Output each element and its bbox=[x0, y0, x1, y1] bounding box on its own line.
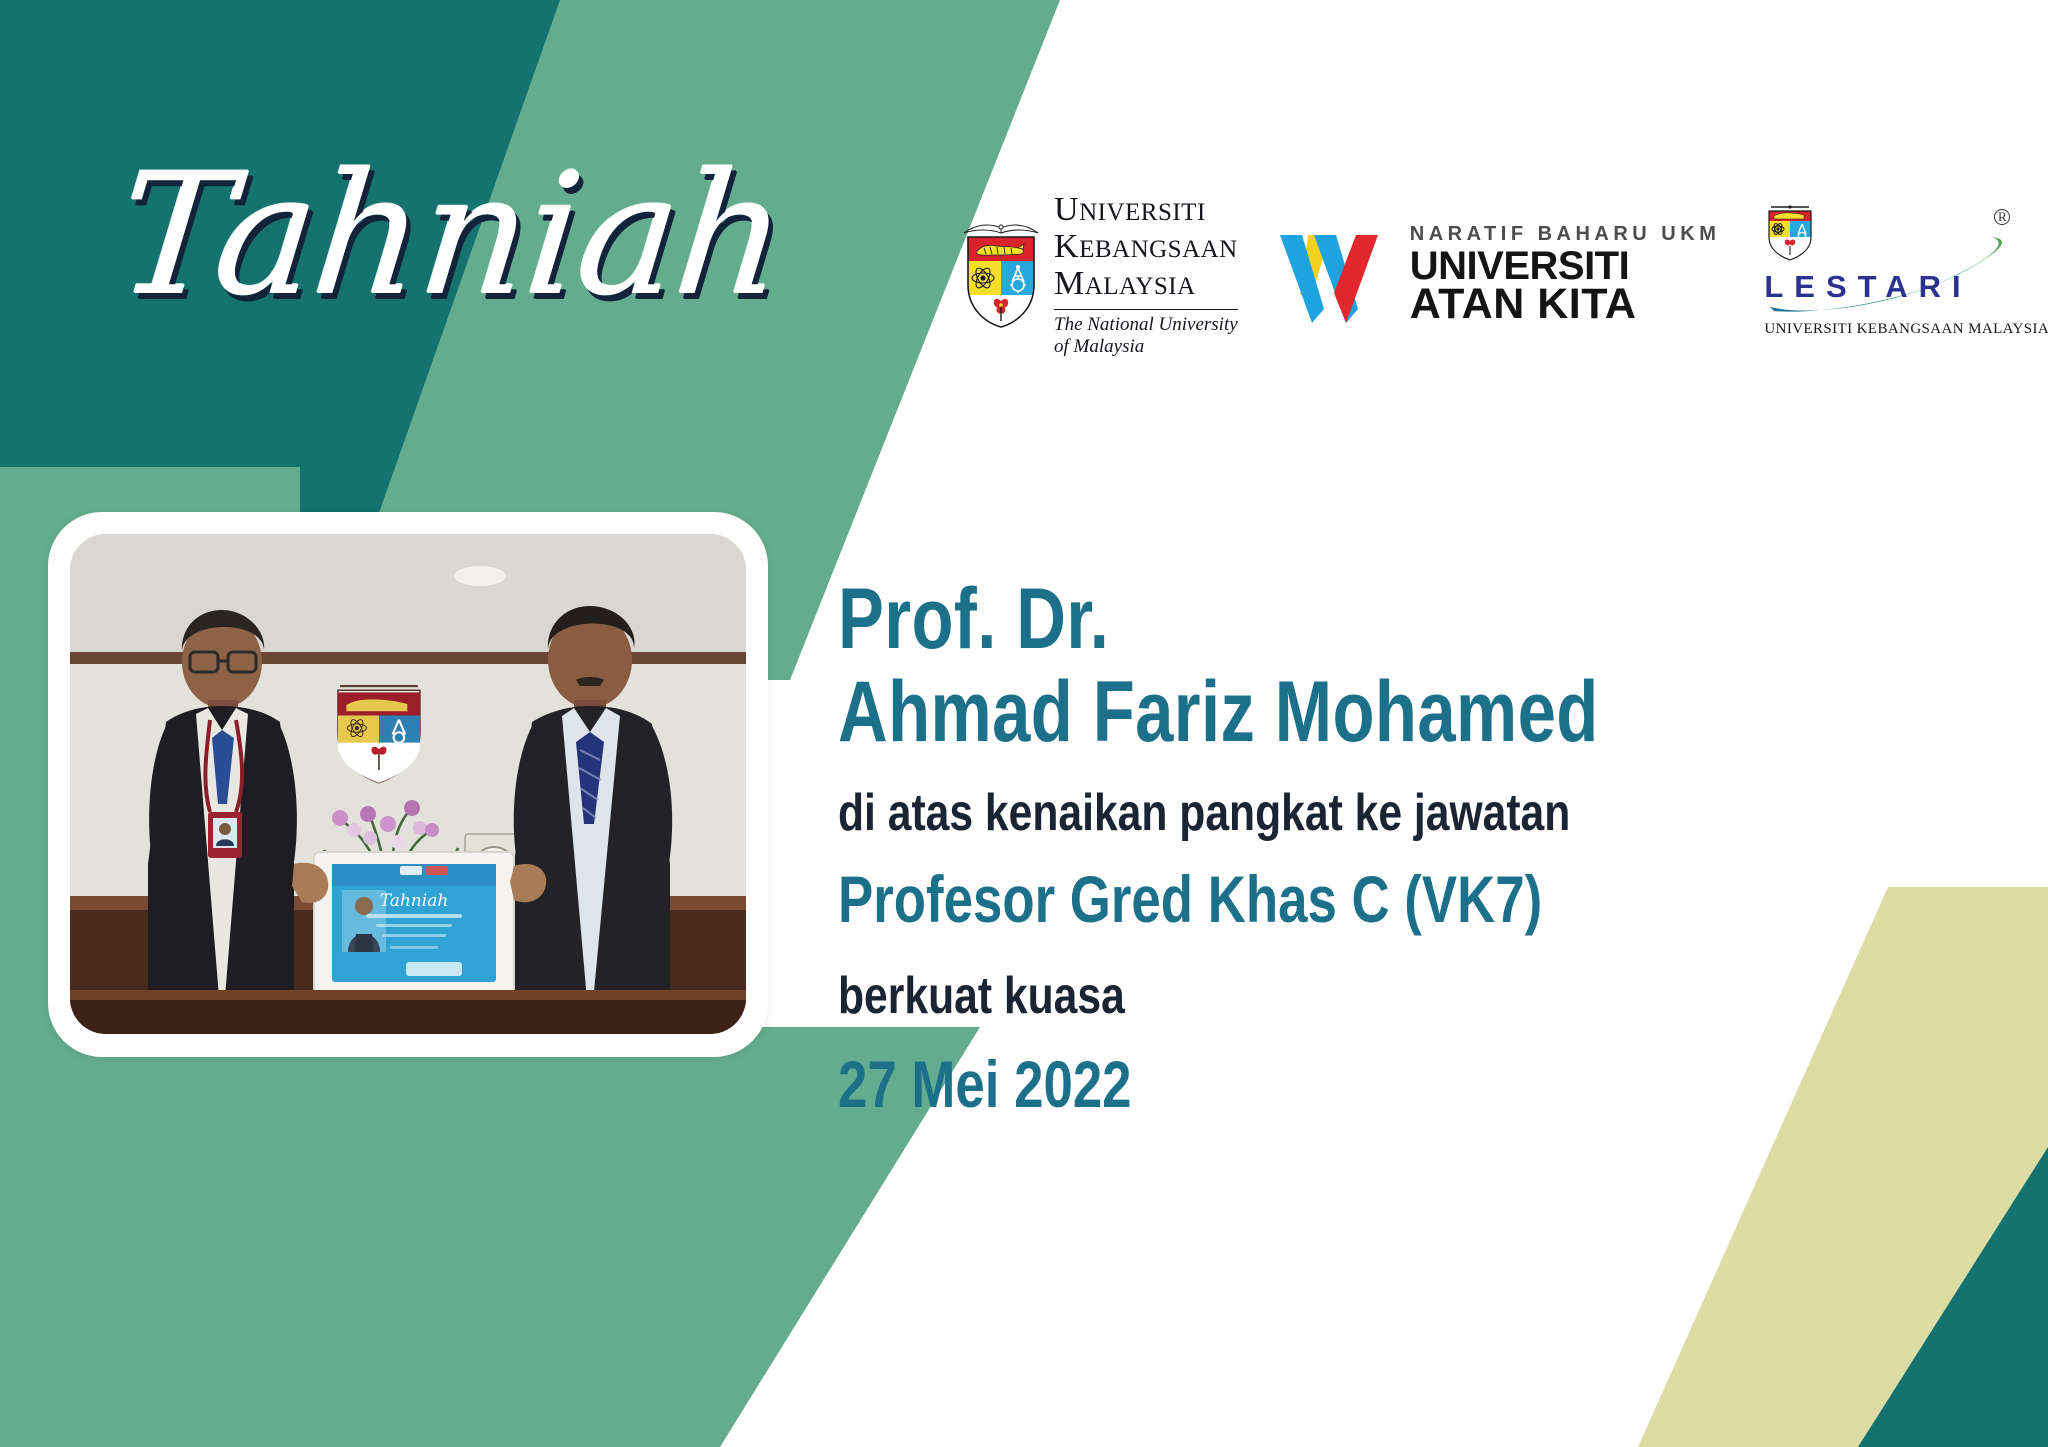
honoree-title: Prof. Dr. bbox=[838, 575, 1718, 664]
effective-label: berkuat kuasa bbox=[838, 964, 1740, 1029]
watan-kita-line-universiti: UNIVERSITI bbox=[1410, 248, 1721, 285]
photo-frame: Tahniah bbox=[48, 512, 768, 1057]
lestari-subtitle: UNIVERSITI KEBANGSAAN MALAYSIA bbox=[1764, 321, 2020, 338]
certificate-plaque: Tahniah bbox=[314, 852, 514, 998]
ukm-shield-crest-icon bbox=[960, 219, 1042, 331]
headline-tahniah: Tahniah bbox=[111, 151, 792, 319]
promotion-reason: di atas kenaikan pangkat ke jawatan bbox=[838, 781, 1740, 846]
promotion-position: Profesor Gred Khas C (VK7) bbox=[838, 860, 1718, 939]
ukm-tagline-line2: of Malaysia bbox=[1054, 336, 1238, 357]
ukm-tagline-line1: The National University bbox=[1054, 314, 1238, 335]
award-presentation-photo: Tahniah bbox=[70, 534, 746, 1034]
watan-kita-logo: NARATIF BAHARU UKM UNIVERSITI ATAN KITA bbox=[1278, 225, 1721, 325]
lestari-logo: R LESTARI UNIVERSITI KEBANGSAAN MALAYSIA bbox=[1760, 195, 2020, 355]
photo-illustration: Tahniah bbox=[70, 534, 746, 1034]
ukm-line-kebangsaan: KEBANGSAAN bbox=[1054, 230, 1238, 264]
photo-card: Tahniah bbox=[48, 512, 778, 942]
watan-kita-line-watan-kita: ATAN KITA bbox=[1410, 285, 1721, 325]
svg-text:Tahniah: Tahniah bbox=[380, 891, 449, 911]
ukm-logo: UNIVERSITI KEBANGSAAN MALAYSIA The Natio… bbox=[960, 193, 1238, 357]
effective-date: 27 Mei 2022 bbox=[838, 1045, 1718, 1124]
honoree-name: Ahmad Fariz Mohamed bbox=[838, 666, 1718, 759]
watan-kita-kicker: NARATIF BAHARU UKM bbox=[1410, 225, 1721, 243]
ukm-line-universiti: UNIVERSITI bbox=[1054, 193, 1238, 227]
watan-kita-wordmark: NARATIF BAHARU UKM UNIVERSITI ATAN KITA bbox=[1410, 225, 1721, 325]
double-w-chevron-icon bbox=[1278, 233, 1404, 325]
lestari-wordmark: LESTARI bbox=[1764, 269, 2016, 305]
headline-script-wrap: Tahniah bbox=[120, 120, 760, 350]
ukm-wordmark: UNIVERSITI KEBANGSAAN MALAYSIA The Natio… bbox=[1054, 193, 1238, 357]
logo-row: UNIVERSITI KEBANGSAAN MALAYSIA The Natio… bbox=[960, 190, 1980, 360]
ukm-shield-icon bbox=[966, 235, 1036, 329]
registered-trademark-icon: R bbox=[1994, 209, 2010, 225]
congratulation-text-block: Prof. Dr. Ahmad Fariz Mohamed di atas ke… bbox=[838, 575, 1938, 1124]
ukm-line-malaysia: MALAYSIA bbox=[1054, 267, 1238, 301]
ukm-divider bbox=[1054, 309, 1238, 310]
congratulations-poster: Tahniah bbox=[0, 0, 2048, 1447]
